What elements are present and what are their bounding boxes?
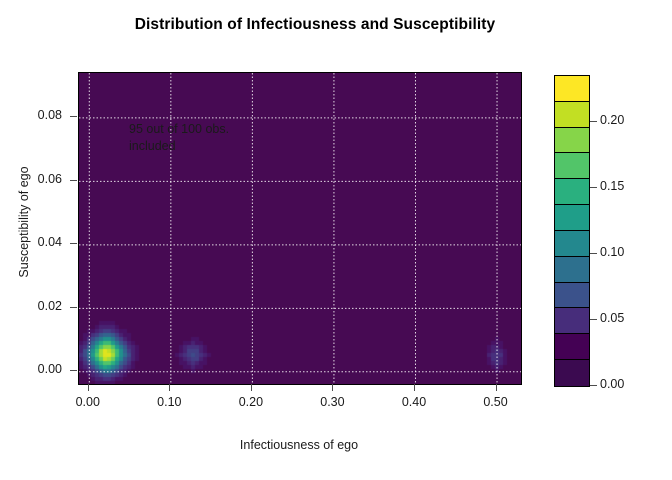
plot-area: 95 out of 100 obs. included [78, 72, 522, 385]
colorbar-tick-label: 0.10 [600, 245, 624, 259]
y-axis-label: Susceptibility of ego [17, 142, 31, 302]
heatmap-density-surface [79, 73, 521, 384]
colorbar-tick-label: 0.20 [600, 113, 624, 127]
colorbar-tick-mark [590, 187, 597, 188]
x-tick-label: 0.00 [58, 395, 118, 409]
colorbar-tick-label: 0.15 [600, 179, 624, 193]
colorbar-band [555, 205, 589, 231]
x-tick-mark [169, 384, 170, 391]
colorbar-band [555, 283, 589, 309]
x-tick-mark [251, 384, 252, 391]
x-tick-label: 0.40 [384, 395, 444, 409]
colorbar-tick-mark [590, 385, 597, 386]
y-tick-label: 0.08 [12, 108, 62, 122]
y-tick-mark [70, 307, 77, 308]
colorbar-band [555, 308, 589, 334]
chart-figure: Distribution of Infectiousness and Susce… [0, 0, 672, 480]
colorbar-band [555, 360, 589, 386]
colorbar-band [555, 179, 589, 205]
observation-count-annotation: 95 out of 100 obs. included [129, 121, 229, 155]
x-tick-mark [332, 384, 333, 391]
page-title: Distribution of Infectiousness and Susce… [90, 14, 540, 36]
colorbar-band [555, 153, 589, 179]
x-tick-label: 0.30 [302, 395, 362, 409]
y-tick-mark [70, 243, 77, 244]
x-tick-label: 0.10 [139, 395, 199, 409]
colorbar-band [555, 76, 589, 102]
y-tick-label: 0.00 [12, 362, 62, 376]
colorbar-legend [554, 75, 590, 387]
x-tick-label: 0.20 [221, 395, 281, 409]
colorbar-tick-label: 0.00 [600, 377, 624, 391]
colorbar-band [555, 102, 589, 128]
colorbar-band [555, 128, 589, 154]
x-tick-label: 0.50 [466, 395, 526, 409]
x-tick-mark [88, 384, 89, 391]
colorbar-tick-mark [590, 121, 597, 122]
colorbar-band [555, 231, 589, 257]
colorbar-tick-mark [590, 253, 597, 254]
y-tick-mark [70, 116, 77, 117]
x-tick-mark [496, 384, 497, 391]
colorbar-tick-mark [590, 319, 597, 320]
x-axis-label: Infectiousness of ego [78, 438, 520, 452]
colorbar-band [555, 257, 589, 283]
colorbar-band [555, 334, 589, 360]
colorbar-tick-label: 0.05 [600, 311, 624, 325]
x-tick-mark [414, 384, 415, 391]
y-tick-mark [70, 370, 77, 371]
y-tick-mark [70, 180, 77, 181]
